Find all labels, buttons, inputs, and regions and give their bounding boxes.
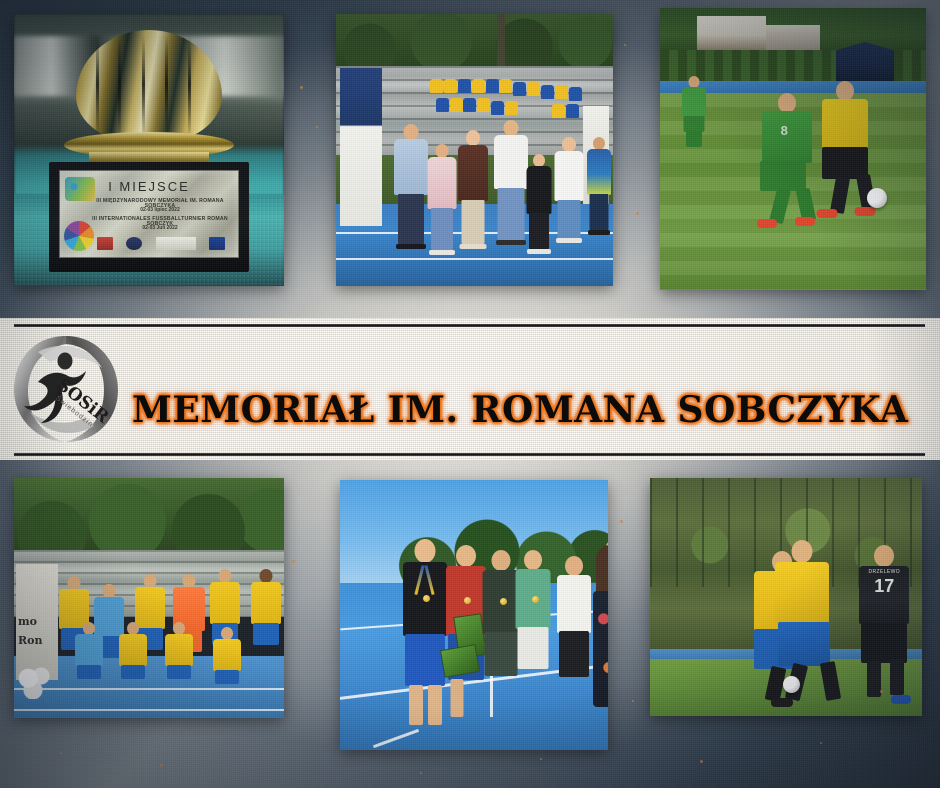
team-sponsor-banner: mo Ron bbox=[16, 564, 58, 679]
plaque-date-de: 02-03 Juli 2022 bbox=[86, 226, 234, 231]
match1-player-green-bg bbox=[681, 76, 707, 148]
ceremony-person bbox=[425, 136, 459, 256]
divider-bottom bbox=[14, 453, 925, 456]
team-player-crouching bbox=[117, 622, 149, 684]
sponsor-badge-red bbox=[97, 237, 113, 250]
ceremony-banner-left bbox=[340, 68, 382, 226]
stadium-seat bbox=[527, 82, 540, 96]
speckle bbox=[160, 764, 163, 767]
divider-top bbox=[14, 324, 925, 327]
sosir-logo: SOSiR Świebodzin bbox=[8, 330, 124, 448]
medals-presenter-woman bbox=[589, 539, 608, 729]
speckle bbox=[632, 700, 634, 702]
speckle bbox=[60, 752, 62, 754]
speckle bbox=[300, 86, 303, 89]
match1-player-yellow bbox=[814, 81, 876, 231]
speckle bbox=[312, 636, 314, 638]
stadium-seat bbox=[450, 98, 463, 112]
stadium-seat bbox=[472, 79, 485, 93]
stadium-seat bbox=[463, 98, 476, 112]
team-player-crouching bbox=[73, 622, 105, 684]
speckle bbox=[636, 212, 639, 215]
team-banner-line-1: mo bbox=[18, 615, 37, 628]
stadium-seat bbox=[513, 82, 526, 96]
ceremony-person bbox=[552, 133, 586, 253]
stadium-seat bbox=[541, 85, 554, 99]
stadium-seat bbox=[430, 79, 443, 93]
plaque-sponsor-badges bbox=[90, 235, 232, 251]
photo-match2: DRZELEWO 17 Mecz piłkarski – zawodnik żó… bbox=[650, 478, 922, 716]
match2-player-yellow bbox=[770, 540, 844, 708]
page-title: MEMORIAŁ IM. ROMANA SOBCZYKA bbox=[132, 378, 922, 442]
speckle bbox=[292, 560, 295, 563]
stadium-seat bbox=[436, 98, 449, 112]
stadium-seat bbox=[569, 87, 582, 101]
plaque-place-text: I MIEJSCE bbox=[60, 179, 238, 194]
match2-jersey-number: 17 bbox=[874, 576, 894, 597]
stadium-seat bbox=[491, 101, 504, 115]
trophy-plaque: I MIEJSCE III MIĘDZYNARODOWY MEMORIAŁ IM… bbox=[59, 170, 239, 258]
team-trees bbox=[14, 478, 284, 560]
stadium-seat bbox=[555, 85, 568, 99]
speckle bbox=[820, 742, 822, 744]
sponsor-badge-white bbox=[156, 237, 196, 250]
ceremony-person bbox=[455, 128, 491, 256]
team-banner-line-2: Ron bbox=[18, 634, 42, 647]
match1-player-green: 8 bbox=[756, 93, 818, 233]
speckle bbox=[624, 44, 626, 46]
team-player-crouching bbox=[163, 622, 195, 684]
stadium-seat bbox=[505, 101, 518, 115]
speckle bbox=[316, 126, 318, 128]
team-player-crouching bbox=[211, 627, 243, 687]
stadium-seat bbox=[566, 104, 579, 118]
stadium-seat bbox=[458, 79, 471, 93]
speckle bbox=[620, 520, 623, 523]
tree-trunk bbox=[497, 14, 505, 68]
logo-runner-head bbox=[58, 353, 73, 370]
photo-medals: Dekoracja medalami i wręczanie dyplomów … bbox=[340, 480, 608, 750]
team-footballs bbox=[18, 667, 52, 699]
speckle bbox=[700, 760, 703, 763]
poster-canvas: I MIEJSCE III MIĘDZYNARODOWY MEMORIAŁ IM… bbox=[0, 0, 940, 788]
stadium-seat bbox=[499, 79, 512, 93]
stadium-seat bbox=[486, 79, 499, 93]
ceremony-person-coach bbox=[585, 133, 613, 237]
match2-jersey-club: DRZELEWO bbox=[868, 569, 900, 575]
stadium-seat bbox=[477, 98, 490, 112]
match1-jersey-number: 8 bbox=[781, 123, 788, 138]
medals-athlete bbox=[512, 550, 554, 720]
speckle bbox=[880, 690, 883, 693]
team-player-standing bbox=[249, 569, 283, 665]
photo-trophy: I MIEJSCE III MIĘDZYNARODOWY MEMORIAŁ IM… bbox=[14, 14, 284, 286]
photo-ceremony: Ceremonia otwarcia – goście na niebieski… bbox=[336, 14, 613, 286]
match1-building-2 bbox=[766, 25, 819, 50]
stadium-seat bbox=[552, 104, 565, 118]
photo-team: mo Ron bbox=[14, 478, 284, 718]
speckle bbox=[420, 772, 422, 774]
sponsor-badge-eu bbox=[209, 237, 225, 250]
match2-football bbox=[783, 676, 800, 693]
sponsor-badge-navy bbox=[126, 237, 142, 250]
plaque-date-pl: 02-03 lipiec 2022 bbox=[86, 208, 234, 213]
match2-player-black: DRZELEWO 17 bbox=[851, 545, 917, 705]
stadium-seat bbox=[444, 79, 457, 93]
photo-match1: 8 Mecz piłkarski – zawodnik w zieleni ko… bbox=[660, 8, 926, 290]
ceremony-person bbox=[524, 144, 554, 256]
match1-building bbox=[697, 16, 766, 50]
speckle bbox=[540, 758, 542, 760]
